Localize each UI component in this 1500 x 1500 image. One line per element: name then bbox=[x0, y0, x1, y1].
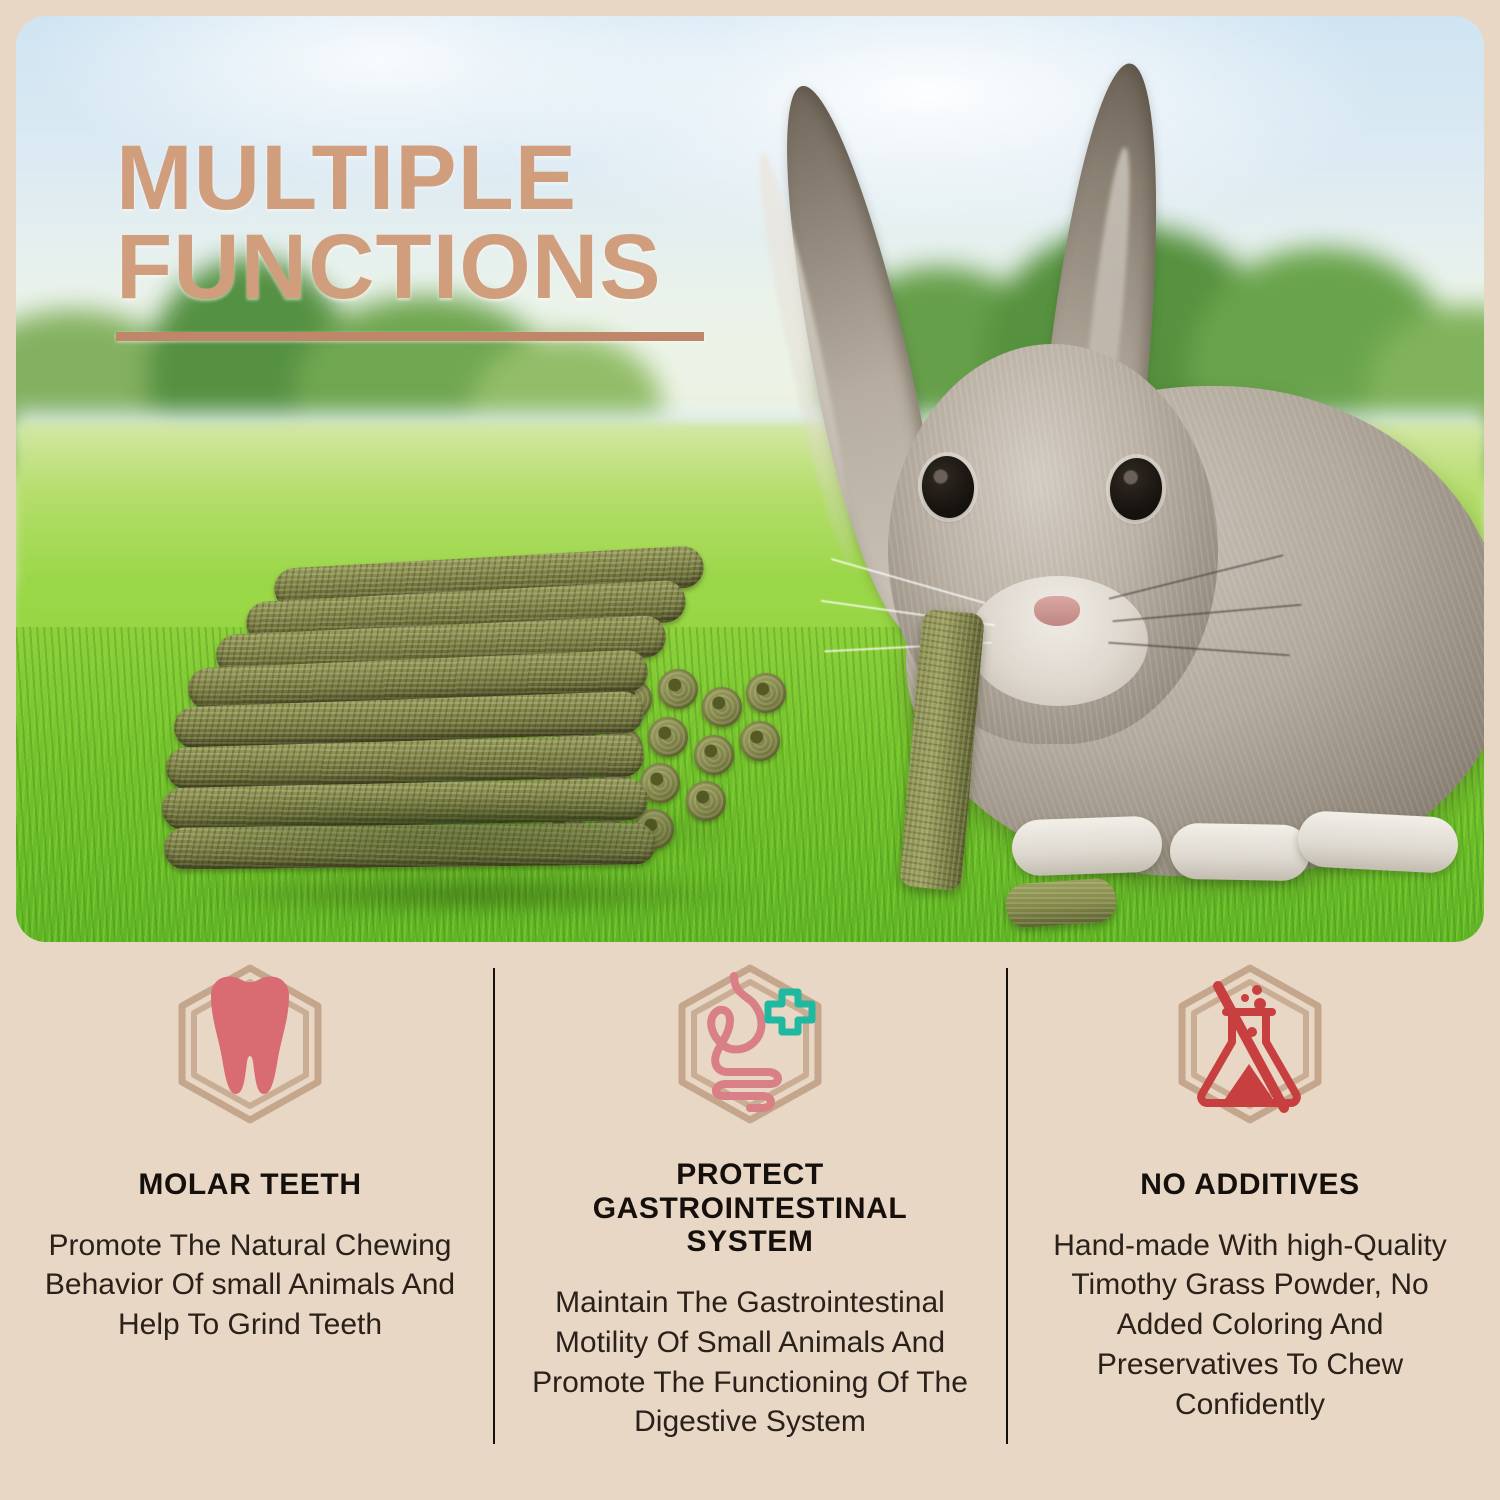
feature-column-no-additives: NO ADDITIVES Hand-made With high-Quality… bbox=[1000, 950, 1500, 1500]
rabbit-paw-rear bbox=[1297, 810, 1460, 874]
hero-product-photo: MULTIPLE FUNCTIONS bbox=[16, 16, 1484, 942]
no-additives-badge bbox=[1150, 960, 1350, 1160]
stick-end-cap bbox=[702, 687, 742, 727]
feature-title: NO ADDITIVES bbox=[1026, 1168, 1474, 1202]
tooth-badge bbox=[150, 960, 350, 1160]
rabbit-paw-mid bbox=[1170, 823, 1311, 881]
feature-title: PROTECT GASTROINTESTINAL SYSTEM bbox=[526, 1158, 974, 1259]
rabbit-nose bbox=[1034, 596, 1080, 626]
feature-title-line-1: PROTECT bbox=[526, 1158, 974, 1192]
rabbit-paw-front bbox=[1011, 815, 1163, 876]
stick-end-cap bbox=[658, 669, 698, 709]
feature-body: Hand-made With high-Quality Timothy Gras… bbox=[1026, 1226, 1474, 1425]
hero-title-block: MULTIPLE FUNCTIONS bbox=[116, 134, 756, 341]
no-additives-flask-icon bbox=[1150, 960, 1350, 1160]
stick-end-cap bbox=[740, 721, 780, 761]
stick-end-cap bbox=[694, 735, 734, 775]
stick-end-cap bbox=[648, 717, 688, 757]
hero-title-line-1: MULTIPLE bbox=[116, 134, 756, 223]
feature-column-gastrointestinal: PROTECT GASTROINTESTINAL SYSTEM Maintain… bbox=[500, 950, 1000, 1500]
feature-title-line-2: GASTROINTESTINAL SYSTEM bbox=[526, 1192, 974, 1259]
feature-title: MOLAR TEETH bbox=[26, 1168, 474, 1202]
hero-title-line-2: FUNCTIONS bbox=[116, 223, 756, 312]
rabbit bbox=[776, 56, 1484, 942]
hero-title-underline bbox=[116, 332, 704, 341]
gastrointestinal-badge bbox=[650, 960, 850, 1160]
gastrointestinal-icon bbox=[650, 960, 850, 1160]
feature-body: Maintain The Gastrointestinal Motility O… bbox=[526, 1283, 974, 1443]
tooth-icon bbox=[150, 960, 350, 1160]
feature-column-molar-teeth: MOLAR TEETH Promote The Natural Chewing … bbox=[0, 950, 500, 1500]
ground-hay-stick bbox=[1005, 877, 1118, 929]
feature-columns: MOLAR TEETH Promote The Natural Chewing … bbox=[0, 950, 1500, 1500]
rabbit-shadow bbox=[161, 796, 761, 866]
feature-body: Promote The Natural Chewing Behavior Of … bbox=[26, 1226, 474, 1346]
